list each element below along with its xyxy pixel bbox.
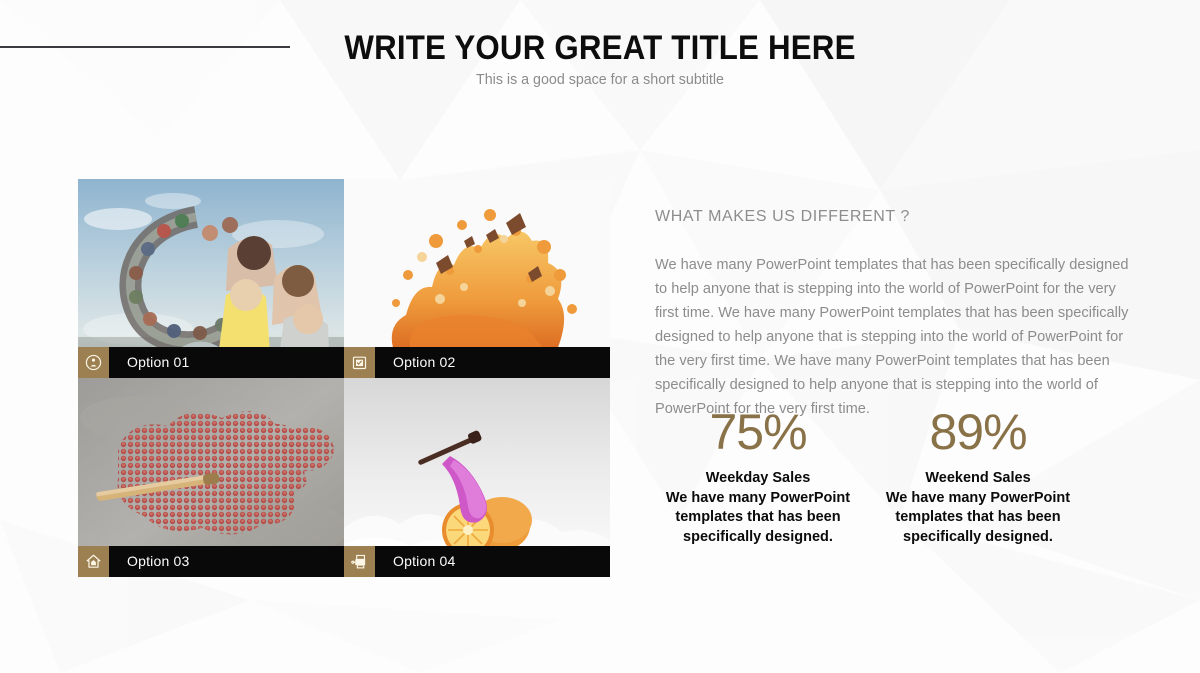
- stat-title: Weekday Sales: [660, 469, 856, 489]
- page-title: WRITE YOUR GREAT TITLE HERE: [278, 28, 922, 68]
- title-rule-divider: [0, 46, 290, 48]
- photo-tile-label: Option 03: [109, 546, 344, 577]
- stat-body: We have many PowerPoint templates that h…: [666, 490, 850, 545]
- photo-tile-label: Option 01: [109, 347, 344, 378]
- stat-value: 75%: [648, 404, 868, 460]
- page-subtitle: This is a good space for a short subtitl…: [268, 70, 933, 90]
- photo-option-grid: Option 01: [78, 179, 610, 577]
- stat-block-weekend: 89% Weekend Sales We have many PowerPoin…: [868, 404, 1088, 547]
- photo-tile-option-01[interactable]: Option 01: [78, 179, 344, 378]
- photo-tile-option-04[interactable]: Option 04: [344, 378, 610, 577]
- slide-header: WRITE YOUR GREAT TITLE HERE This is a go…: [0, 0, 1200, 110]
- photo-tile-bar: Option 01: [78, 347, 344, 378]
- printer-icon: [344, 546, 375, 577]
- photo-tile-option-02[interactable]: Option 02: [344, 179, 610, 378]
- photo-tile-bar: Option 02: [344, 347, 610, 378]
- stat-description: Weekday Sales We have many PowerPoint te…: [648, 469, 868, 547]
- stat-description: Weekend Sales We have many PowerPoint te…: [868, 469, 1088, 547]
- photo-tile-bar: Option 04: [344, 546, 610, 577]
- home-icon: [78, 546, 109, 577]
- stats-row: 75% Weekday Sales We have many PowerPoin…: [648, 404, 1088, 547]
- photo-tile-label: Option 02: [375, 347, 610, 378]
- body-paragraph: We have many PowerPoint templates that h…: [655, 253, 1141, 421]
- stat-title: Weekend Sales: [880, 469, 1076, 489]
- stat-body: We have many PowerPoint templates that h…: [886, 490, 1070, 545]
- stat-value: 89%: [868, 404, 1088, 460]
- calendar-check-icon: [344, 347, 375, 378]
- stat-block-weekday: 75% Weekday Sales We have many PowerPoin…: [648, 404, 868, 547]
- photo-tile-bar: Option 03: [78, 546, 344, 577]
- section-heading: WHAT MAKES US DIFFERENT ?: [655, 206, 1145, 228]
- photo-tile-option-03[interactable]: Option 03: [78, 378, 344, 577]
- photo-tile-label: Option 04: [375, 546, 610, 577]
- person-circle-icon: [78, 347, 109, 378]
